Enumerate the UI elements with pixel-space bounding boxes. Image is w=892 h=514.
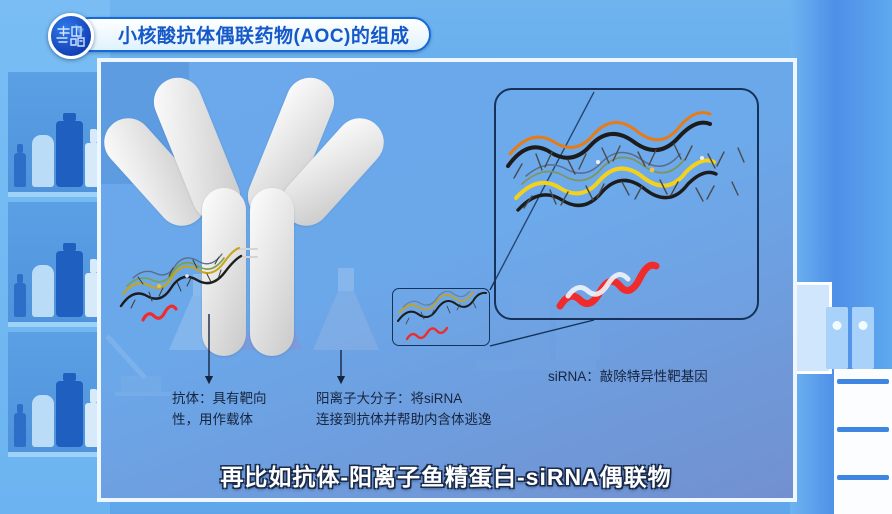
bottle-small-neck xyxy=(17,274,23,283)
label-cationic-polymer: 阳离子大分子：将siRNA 连接到抗体并帮助内含体逃逸 xyxy=(316,388,492,430)
binder-hole-icon xyxy=(833,321,842,330)
diagram-panel xyxy=(97,58,797,502)
subtitle-caption: 再比如抗体-阳离子鱼精蛋白-siRNA偶联物 xyxy=(0,458,892,492)
bottle-pale xyxy=(32,265,54,317)
sirna-conjugate-molecule-icon xyxy=(115,230,245,326)
bottle-small xyxy=(14,153,26,187)
sirna-conjugate-molecule-icon xyxy=(395,291,489,345)
bottle-dark-neck xyxy=(63,243,76,251)
shelf-middle xyxy=(8,202,102,327)
drawer-handle xyxy=(837,427,889,432)
bottle-small xyxy=(14,413,26,447)
label-sirna: siRNA：敲除特异性靶基因 xyxy=(548,366,708,387)
page-title-pill: 小核酸抗体偶联药物(AOC)的组成 xyxy=(72,17,431,52)
binder-right xyxy=(852,307,874,369)
binder-left xyxy=(826,307,848,369)
bottle-light-neck xyxy=(90,259,97,273)
bottle-pale xyxy=(32,135,54,187)
bottle-small-neck xyxy=(17,144,23,153)
antibody-stem-right xyxy=(250,188,294,356)
channel-logo-icon xyxy=(48,13,94,59)
magnification-source-box xyxy=(392,288,490,346)
bottle-dark xyxy=(56,251,83,317)
screenshot-root: 小核酸抗体偶联药物(AOC)的组成 xyxy=(0,0,892,514)
cabinet-drawers xyxy=(834,369,892,514)
bottle-dark xyxy=(56,381,83,447)
bottle-dark-neck xyxy=(63,373,76,381)
shelf-bottom xyxy=(8,332,102,457)
binder-hole-icon xyxy=(859,321,868,330)
bottle-pale xyxy=(32,395,54,447)
bottle-dark-neck xyxy=(63,113,76,121)
bottle-dark xyxy=(56,121,83,187)
magnification-callout-icon xyxy=(494,88,759,320)
page-title: 小核酸抗体偶联药物(AOC)的组成 xyxy=(118,21,409,48)
bottle-light-neck xyxy=(90,129,97,143)
shelf-top xyxy=(8,72,102,197)
sirna-double-helix-zoom-icon xyxy=(502,110,758,316)
drawer-handle xyxy=(837,379,889,384)
bottle-light-neck xyxy=(90,389,97,403)
poster-inner xyxy=(797,285,829,371)
bottle-small-neck xyxy=(17,404,23,413)
bottle-small xyxy=(14,283,26,317)
label-antibody: 抗体：具有靶向 性，用作载体 xyxy=(172,388,267,430)
